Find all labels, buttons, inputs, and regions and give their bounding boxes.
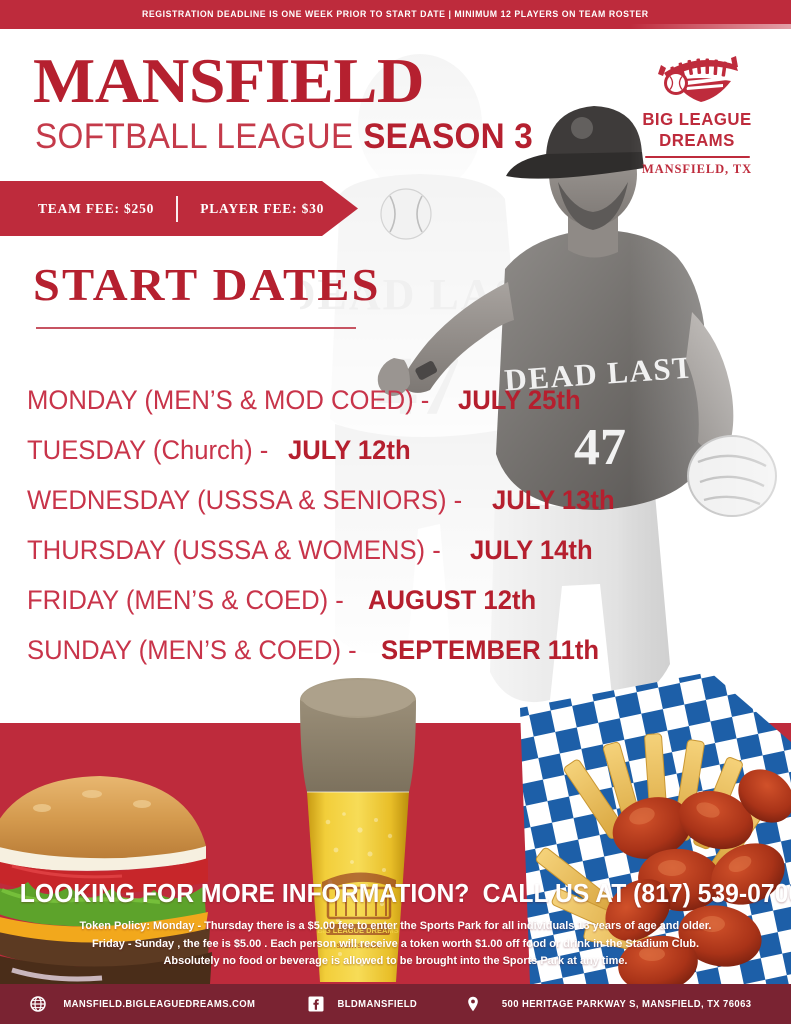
page-subtitle: SOFTBALL LEAGUE SEASON 3 <box>35 117 533 157</box>
date-value: SEPTEMBER 11th <box>381 635 599 666</box>
start-date-row-sunday: SUNDAY (MEN’S & COED) - SEPTEMBER 11th <box>27 625 627 675</box>
subtitle-season: SEASON 3 <box>363 117 533 156</box>
cta-question: LOOKING FOR MORE INFORMATION? <box>20 878 470 908</box>
flyer-page: REGISTRATION DEADLINE IS ONE WEEK PRIOR … <box>0 0 791 1024</box>
footer-facebook-text: BLDMANSFIELD <box>337 999 417 1010</box>
footer-website-text: MANSFIELD.BIGLEAGUEDREAMS.COM <box>64 999 256 1010</box>
date-value: JULY 25th <box>458 385 581 416</box>
fee-divider <box>176 196 178 222</box>
date-value: JULY 14th <box>470 535 593 566</box>
start-date-row-tuesday: TUESDAY (Church) - JULY 12th <box>27 425 627 475</box>
logo-city-name: MANSFIELD, TX <box>612 162 782 177</box>
policy-line-3: Absolutely no food or beverage is allowe… <box>56 953 736 971</box>
footer-facebook[interactable]: BLDMANSFIELD <box>308 996 421 1013</box>
start-dates-heading: START DATES <box>33 262 381 308</box>
start-date-row-thursday: THURSDAY (USSSA & WOMENS) - JULY 14th <box>27 525 627 575</box>
globe-icon <box>29 996 46 1013</box>
cta-phone[interactable]: CALL US AT (817) 539-0700 <box>483 878 791 908</box>
logo-divider <box>645 156 750 158</box>
logo-brand-name: BIG LEAGUE DREAMS <box>615 109 778 151</box>
start-dates-divider <box>36 327 356 329</box>
date-value: AUGUST 12th <box>368 585 536 616</box>
footer-bar: MANSFIELD.BIGLEAGUEDREAMS.COM BLDMANSFIE… <box>0 984 791 1024</box>
registration-notice-text: REGISTRATION DEADLINE IS ONE WEEK PRIOR … <box>142 9 649 20</box>
fee-banner: TEAM FEE: $250 PLAYER FEE: $30 <box>0 181 358 236</box>
footer-website[interactable]: MANSFIELD.BIGLEAGUEDREAMS.COM <box>29 996 264 1013</box>
player-fee: PLAYER FEE: $30 <box>200 201 324 217</box>
start-dates-list: MONDAY (MEN’S & MOD COED) - JULY 25th TU… <box>27 375 627 675</box>
start-date-row-friday: FRIDAY (MEN’S & COED) - AUGUST 12th <box>27 575 627 625</box>
big-league-dreams-logo: BIG LEAGUE DREAMS MANSFIELD, TX <box>612 50 782 162</box>
cta-line: LOOKING FOR MORE INFORMATION?CALL US AT … <box>20 878 771 909</box>
stadium-icon <box>638 50 756 106</box>
date-label: TUESDAY (Church) - <box>27 435 268 466</box>
date-label: MONDAY (MEN’S & MOD COED) - <box>27 385 429 416</box>
date-label: FRIDAY (MEN’S & COED) - <box>27 585 344 616</box>
registration-notice-bar: REGISTRATION DEADLINE IS ONE WEEK PRIOR … <box>0 0 791 29</box>
date-value: JULY 13th <box>492 485 615 516</box>
policy-line-2: Friday - Sunday , the fee is $5.00 . Eac… <box>56 936 736 954</box>
location-pin-icon <box>465 996 482 1013</box>
start-date-row-monday: MONDAY (MEN’S & MOD COED) - JULY 25th <box>27 375 627 425</box>
date-label: SUNDAY (MEN’S & COED) - <box>27 635 357 666</box>
date-value: JULY 12th <box>288 435 411 466</box>
token-policy-text: Token Policy: Monday - Thursday there is… <box>56 918 736 971</box>
start-date-row-wednesday: WEDNESDAY (USSSA & SENIORS) - JULY 13th <box>27 475 627 525</box>
date-label: THURSDAY (USSSA & WOMENS) - <box>27 535 441 566</box>
footer-address-text: 500 HERITAGE PARKWAY S, MANSFIELD, TX 76… <box>501 999 751 1010</box>
page-title: MANSFIELD <box>33 49 424 113</box>
footer-address[interactable]: 500 HERITAGE PARKWAY S, MANSFIELD, TX 76… <box>465 996 762 1013</box>
team-fee: TEAM FEE: $250 <box>38 201 154 217</box>
date-label: WEDNESDAY (USSSA & SENIORS) - <box>27 485 462 516</box>
facebook-icon <box>308 996 325 1013</box>
policy-line-1: Token Policy: Monday - Thursday there is… <box>56 918 736 936</box>
subtitle-league: SOFTBALL LEAGUE <box>35 117 363 156</box>
